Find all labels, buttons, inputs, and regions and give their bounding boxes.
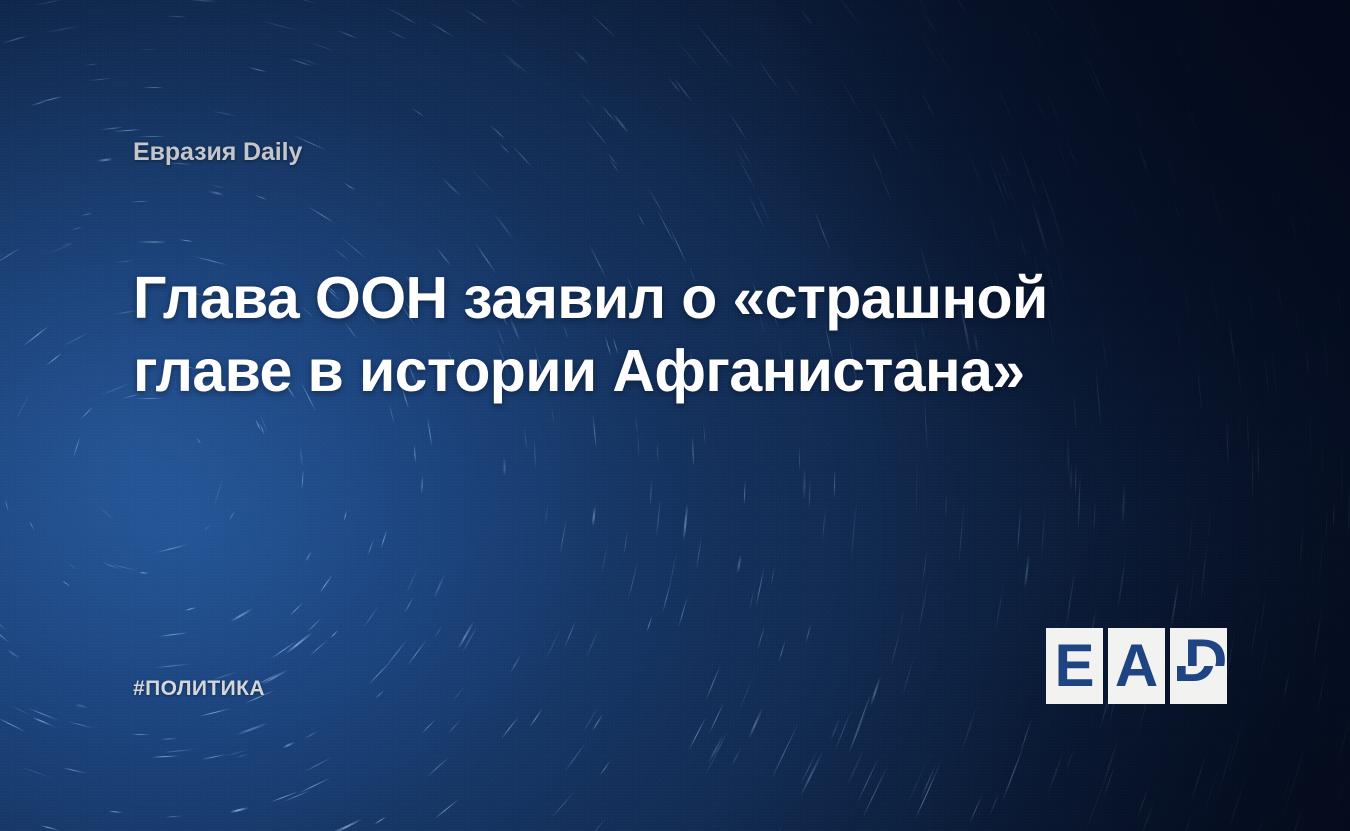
logo-letter-d-bottom: D [1173,666,1216,691]
logo-tile-e: E [1046,628,1103,704]
headline-title: Глава ООН заявил о «страшной главе в ист… [133,262,1193,408]
category-hashtag[interactable]: #ПОЛИТИКА [133,677,265,701]
logo-letter-d-top-half: D [1170,628,1227,666]
social-share-card: Евразия Daily Глава ООН заявил о «страшн… [0,0,1350,831]
logo-tile-d: D D [1170,628,1227,704]
card-content: Евразия Daily Глава ООН заявил о «страшн… [0,0,1350,831]
logo-letter-e: E [1054,636,1094,696]
logo-letter-a: A [1115,636,1158,696]
logo-letter-d-bottom-half: D [1170,666,1227,704]
brand-wordmark[interactable]: Евразия Daily [133,138,302,167]
logo-letter-d-top: D [1184,631,1227,666]
logo-tile-a: A [1108,628,1165,704]
eadaily-logo[interactable]: E A D D [1046,628,1227,704]
